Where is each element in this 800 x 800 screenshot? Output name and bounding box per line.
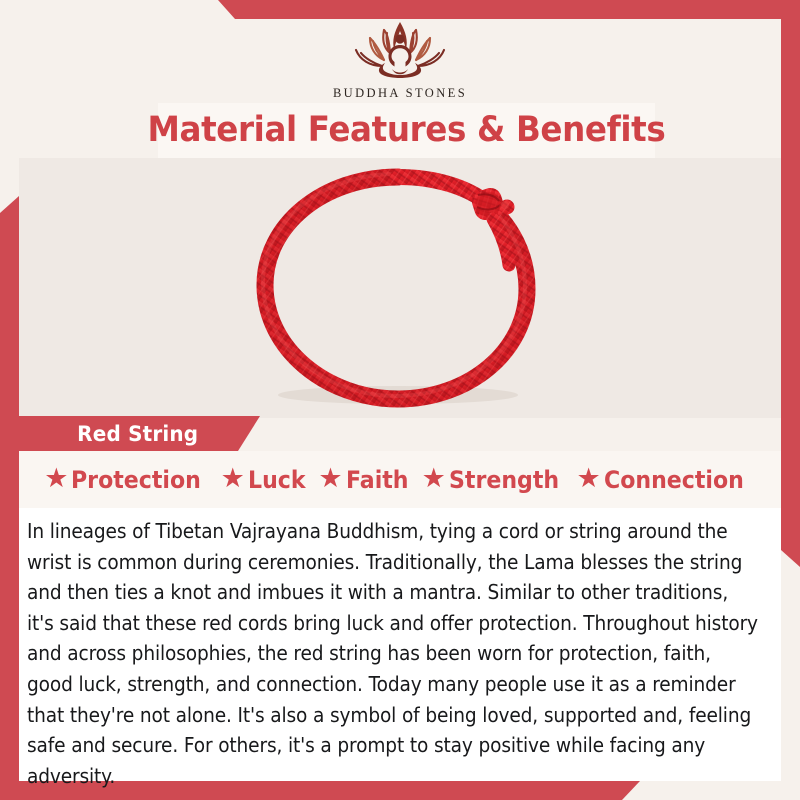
benefit-item: ★ Faith — [318, 466, 413, 493]
star-icon: ★ — [422, 465, 446, 492]
benefit-label: Protection — [71, 468, 201, 492]
benefit-label: Luck — [248, 468, 306, 492]
description-panel: In lineages of Tibetan Vajrayana Buddhis… — [19, 508, 781, 781]
page-title: Material Features & Benefits — [148, 113, 666, 148]
section-ribbon: Red String — [19, 416, 260, 451]
benefit-item: ★ Luck — [221, 466, 311, 493]
title-banner: Material Features & Benefits — [158, 103, 655, 158]
benefit-item: ★ Strength — [422, 466, 569, 493]
brand-wordmark: BUDDHA STONES — [0, 86, 800, 101]
product-image — [19, 158, 781, 418]
star-icon: ★ — [577, 465, 601, 492]
section-ribbon-label: Red String — [77, 422, 198, 446]
red-string-bracelet-illustration — [235, 163, 565, 413]
infographic-page: BUDDHA STONES Material Features & Benefi… — [0, 0, 800, 800]
star-icon: ★ — [221, 465, 245, 492]
benefit-label: Faith — [346, 468, 409, 492]
brand-logo: BUDDHA STONES — [0, 14, 800, 101]
benefits-row: ★ Protection ★ Luck ★ Faith ★ Strength ★… — [44, 466, 756, 493]
benefit-label: Strength — [449, 468, 559, 492]
benefit-item: ★ Connection — [577, 466, 756, 493]
benefit-label: Connection — [604, 468, 744, 492]
benefit-item: ★ Protection — [44, 466, 212, 493]
lotus-meditation-icon — [330, 14, 470, 84]
star-icon: ★ — [44, 465, 68, 492]
star-icon: ★ — [318, 465, 342, 492]
decorative-left-bar — [0, 196, 19, 800]
benefits-strip: ★ Protection ★ Luck ★ Faith ★ Strength ★… — [19, 451, 781, 508]
description-text: In lineages of Tibetan Vajrayana Buddhis… — [27, 516, 759, 791]
decorative-right-bar — [781, 19, 800, 567]
